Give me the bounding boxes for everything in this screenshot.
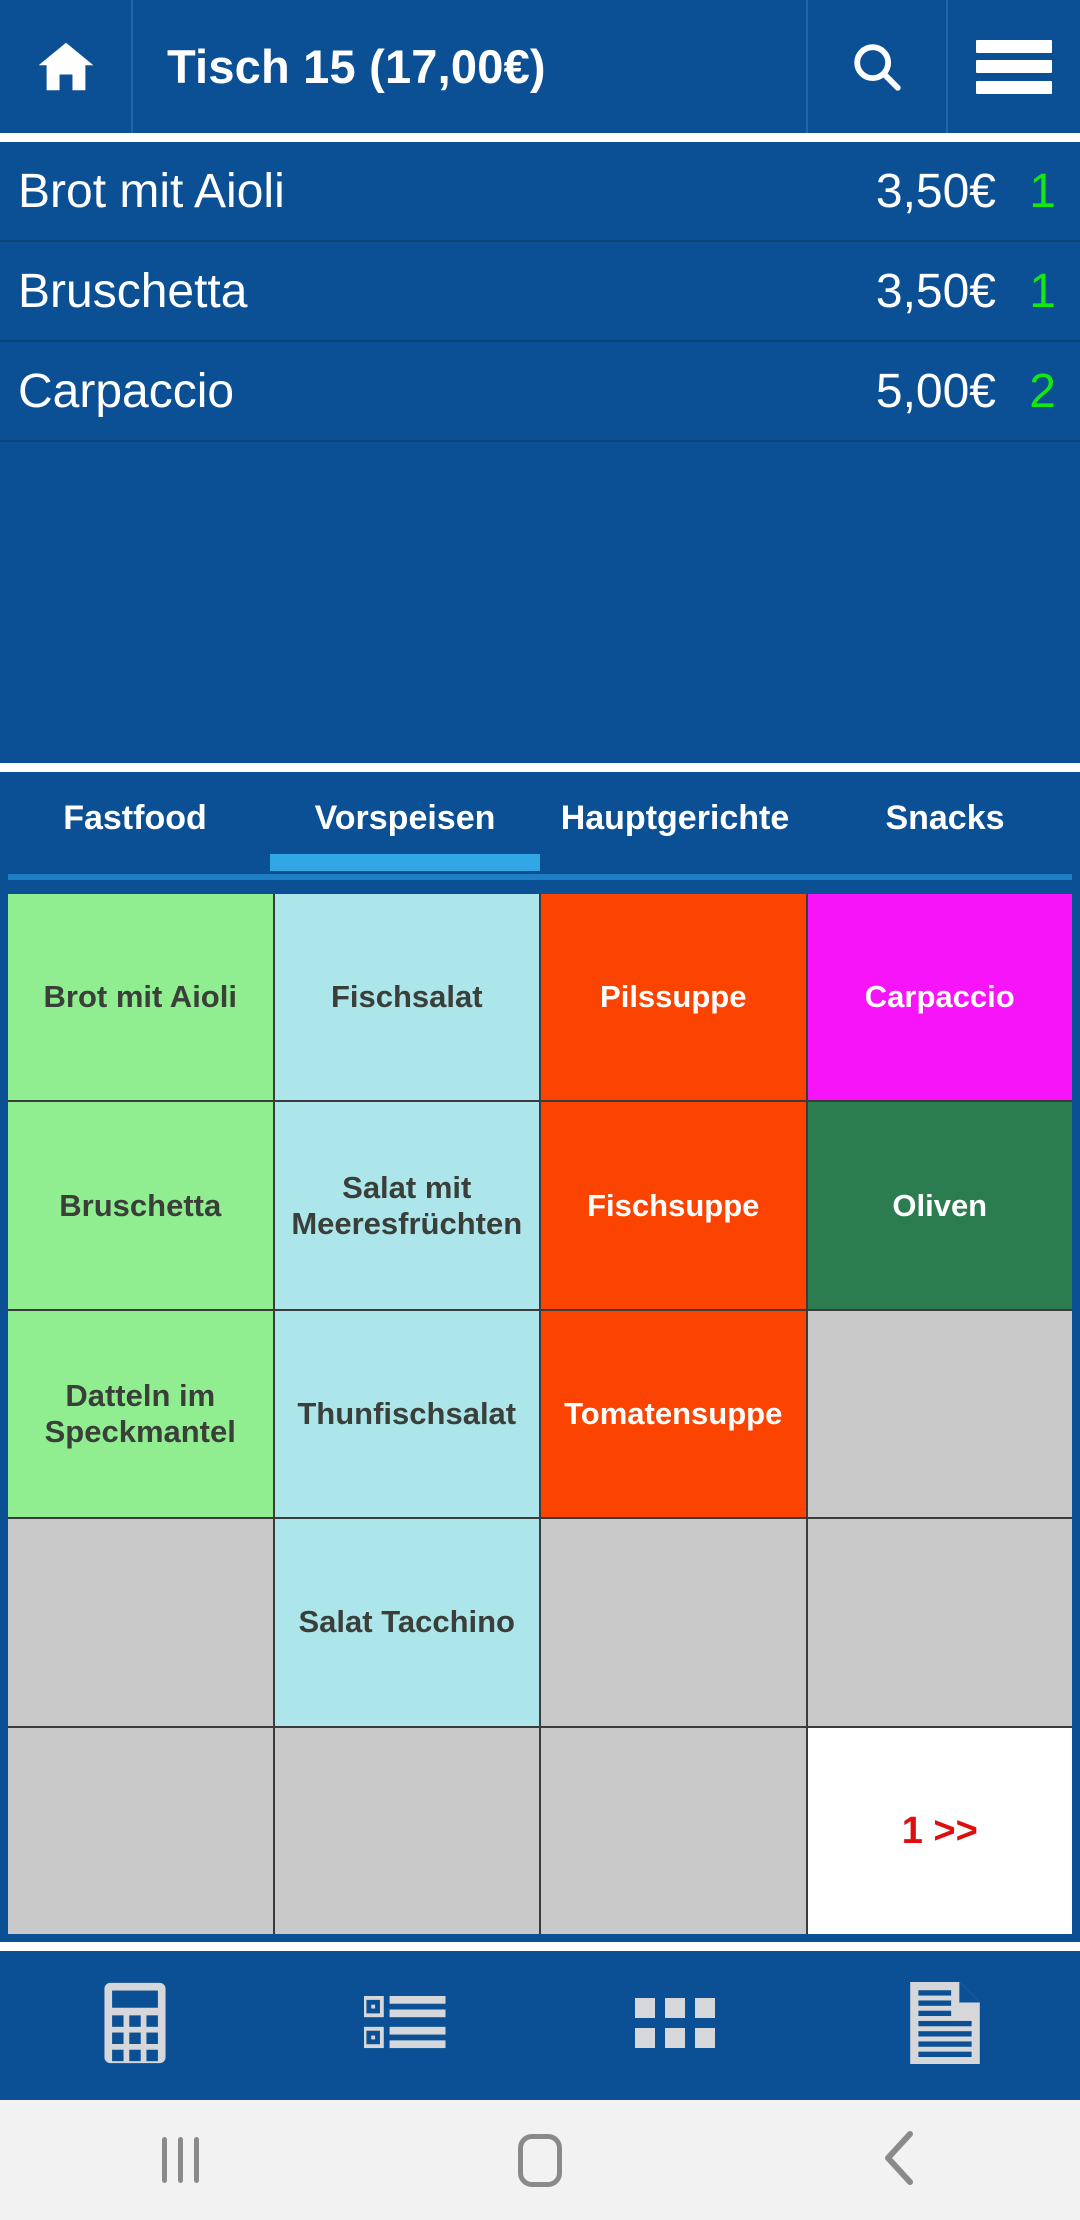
tab-fastfood[interactable]: Fastfood (0, 772, 270, 880)
product-tile-label: Oliven (892, 1188, 987, 1224)
order-item-price: 3,50€ (768, 164, 1018, 219)
search-button[interactable] (806, 0, 946, 133)
order-row[interactable]: Bruschetta 3,50€ 1 (0, 242, 1080, 342)
order-row[interactable]: Brot mit Aioli 3,50€ 1 (0, 142, 1080, 242)
product-tile-empty[interactable] (541, 1728, 806, 1934)
recents-button[interactable] (0, 2100, 360, 2220)
product-tile-label: Pilssuppe (600, 979, 746, 1015)
tab-label: Vorspeisen (315, 799, 496, 838)
search-icon (848, 38, 906, 96)
back-chevron-icon (882, 2130, 918, 2191)
order-item-price: 3,50€ (768, 264, 1018, 319)
calculator-icon (102, 1981, 168, 2070)
tab-vorspeisen[interactable]: Vorspeisen (270, 772, 540, 880)
product-tile-empty[interactable] (808, 1311, 1073, 1517)
pos-app-screen: Tisch 15 (17,00€) Brot mit Aioli 3,50€ 1 (0, 0, 1080, 2220)
product-tile-empty[interactable] (8, 1728, 273, 1934)
recents-icon (162, 2137, 199, 2183)
product-tile[interactable]: Datteln im Speckmantel (8, 1311, 273, 1517)
category-tabs-bar: Fastfood Vorspeisen Hauptgerichte Snacks (0, 772, 1080, 880)
product-tile-label: Salat mit Meeresfrüchten (283, 1170, 532, 1242)
order-list-button[interactable] (270, 1951, 540, 2100)
tabs-baseline (8, 874, 1072, 880)
product-tile[interactable]: Salat Tacchino (275, 1519, 540, 1725)
product-tile-label: Thunfischsalat (297, 1396, 516, 1432)
order-item-name: Bruschetta (18, 264, 768, 319)
order-item-name: Carpaccio (18, 364, 768, 419)
product-tile[interactable]: Bruschetta (8, 1102, 273, 1308)
product-tile[interactable]: Carpaccio (808, 894, 1073, 1100)
order-item-price: 5,00€ (768, 364, 1018, 419)
tab-label: Snacks (885, 799, 1004, 838)
home-button[interactable] (0, 0, 133, 133)
product-tile-label: Salat Tacchino (299, 1604, 516, 1640)
product-tile[interactable]: Fischsalat (275, 894, 540, 1100)
order-item-qty: 2 (1018, 364, 1080, 419)
order-item-name: Brot mit Aioli (18, 164, 768, 219)
order-row[interactable]: Carpaccio 5,00€ 2 (0, 342, 1080, 442)
product-tile-label: Datteln im Speckmantel (16, 1378, 265, 1450)
grid-apps-icon (635, 1998, 715, 2053)
tab-snacks[interactable]: Snacks (810, 772, 1080, 880)
tab-label: Hauptgerichte (561, 799, 790, 838)
top-app-bar: Tisch 15 (17,00€) (0, 0, 1080, 133)
product-tile[interactable]: Tomatensuppe (541, 1311, 806, 1517)
menu-button[interactable] (946, 0, 1080, 133)
receipt-button[interactable] (810, 1951, 1080, 2100)
tab-label: Fastfood (63, 799, 207, 838)
grid-toolbar-divider (0, 1942, 1080, 1951)
product-tile-empty[interactable] (275, 1728, 540, 1934)
list-detail-icon (364, 1996, 446, 2055)
order-item-qty: 1 (1018, 264, 1080, 319)
product-tile-label: Tomatensuppe (564, 1396, 782, 1432)
product-tile[interactable]: Thunfischsalat (275, 1311, 540, 1517)
android-navigation-bar (0, 2100, 1080, 2220)
receipt-document-icon (908, 1980, 982, 2071)
product-tile-label: Carpaccio (865, 979, 1015, 1015)
product-tile-label: Brot mit Aioli (44, 979, 237, 1015)
bottom-toolbar (0, 1951, 1080, 2100)
product-tile-empty[interactable] (8, 1519, 273, 1725)
back-button[interactable] (720, 2100, 1080, 2220)
product-tile-label: Bruschetta (59, 1188, 221, 1224)
table-grid-button[interactable] (540, 1951, 810, 2100)
product-tile[interactable]: Oliven (808, 1102, 1073, 1308)
header-divider (0, 133, 1080, 142)
order-item-qty: 1 (1018, 164, 1080, 219)
product-tile-empty[interactable] (808, 1519, 1073, 1725)
product-grid-container: Brot mit Aioli Fischsalat Pilssuppe Carp… (0, 886, 1080, 1942)
product-tile[interactable]: Salat mit Meeresfrüchten (275, 1102, 540, 1308)
home-nav-button[interactable] (360, 2100, 720, 2220)
next-page-button[interactable]: 1 >> (808, 1728, 1073, 1934)
product-tile-label: Fischsuppe (587, 1188, 759, 1224)
home-circle-icon (518, 2134, 562, 2187)
product-tile-empty[interactable] (541, 1519, 806, 1725)
order-grid-divider (0, 763, 1080, 772)
next-page-label: 1 >> (902, 1809, 978, 1853)
product-tile[interactable]: Brot mit Aioli (8, 894, 273, 1100)
tab-hauptgerichte[interactable]: Hauptgerichte (540, 772, 810, 880)
order-list-panel: Brot mit Aioli 3,50€ 1 Bruschetta 3,50€ … (0, 142, 1080, 763)
active-tab-indicator (270, 854, 540, 871)
product-grid: Brot mit Aioli Fischsalat Pilssuppe Carp… (8, 894, 1072, 1934)
calculator-button[interactable] (0, 1951, 270, 2100)
home-icon (32, 36, 100, 98)
product-tile[interactable]: Pilssuppe (541, 894, 806, 1100)
hamburger-menu-icon (976, 40, 1052, 94)
table-title: Tisch 15 (17,00€) (133, 0, 806, 133)
product-tile[interactable]: Fischsuppe (541, 1102, 806, 1308)
category-tabs: Fastfood Vorspeisen Hauptgerichte Snacks (0, 772, 1080, 880)
table-title-text: Tisch 15 (17,00€) (167, 39, 546, 94)
product-tile-label: Fischsalat (331, 979, 483, 1015)
